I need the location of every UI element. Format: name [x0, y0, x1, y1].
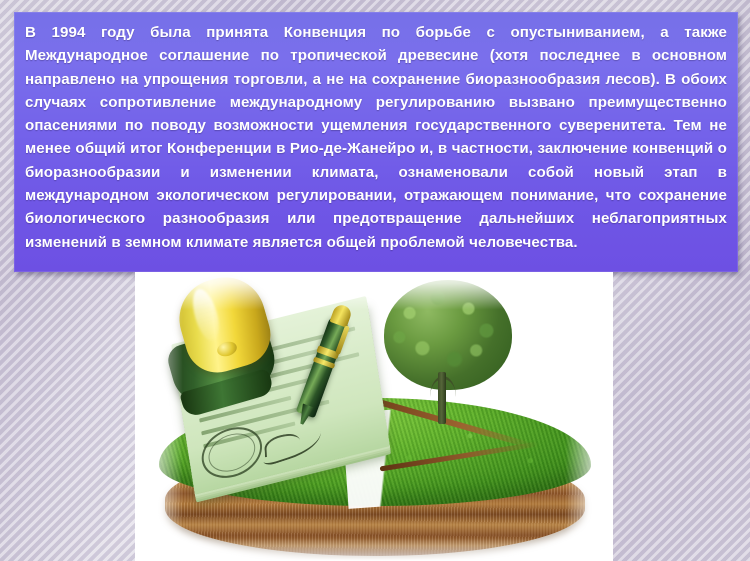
- illustration-image: [135, 272, 613, 561]
- tree-crown: [384, 280, 512, 390]
- slide: В 1994 году была принята Конвенция по бо…: [0, 0, 750, 561]
- panel-body-text: В 1994 году была принята Конвенция по бо…: [25, 21, 727, 254]
- tree: [378, 280, 518, 430]
- rubber-stamp: [161, 276, 291, 416]
- tree-trunk: [438, 372, 446, 424]
- text-panel: В 1994 году была принята Конвенция по бо…: [14, 12, 738, 272]
- illustration-inner: [135, 272, 613, 561]
- tree-foliage: [384, 280, 512, 390]
